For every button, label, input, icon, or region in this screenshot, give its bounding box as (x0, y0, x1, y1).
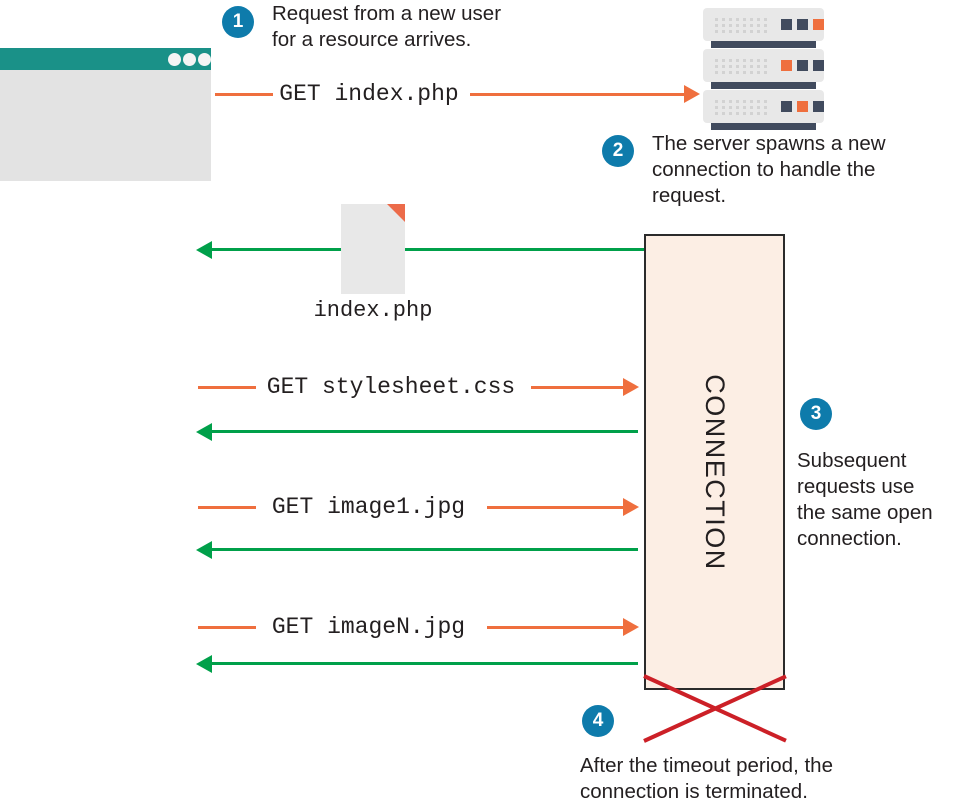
server-unit-base (711, 82, 816, 89)
response-line-3 (210, 548, 638, 551)
server-led (797, 101, 808, 112)
response-line-4 (210, 662, 638, 665)
diagram-canvas: 1 Request from a new user for a resource… (0, 0, 960, 807)
server-led (797, 60, 808, 71)
server-led (813, 60, 824, 71)
server-vent-grid (715, 18, 775, 32)
request-arrowhead-3 (623, 498, 639, 516)
request-line-left-4 (198, 626, 256, 629)
step-badge-3: 3 (800, 398, 832, 430)
step-text-1: Request from a new user for a resource a… (272, 1, 572, 53)
server-unit-base (711, 123, 816, 130)
server-rack (703, 8, 824, 128)
index-php-caption: index.php (293, 298, 453, 323)
index-php-file (341, 204, 405, 294)
response-line-1 (210, 248, 644, 251)
server-led (813, 19, 824, 30)
step-badge-2: 2 (602, 135, 634, 167)
browser-dot-icon (168, 53, 181, 66)
server-led (781, 19, 792, 30)
browser-dot-icon (183, 53, 196, 66)
response-line-2 (210, 430, 638, 433)
server-led (813, 101, 824, 112)
server-vent-grid (715, 100, 775, 114)
server-unit-base (711, 41, 816, 48)
connection-label: CONNECTION (699, 374, 730, 571)
browser-window (0, 48, 211, 181)
request-line-right-2 (531, 386, 623, 389)
server-led (781, 101, 792, 112)
server-led (781, 60, 792, 71)
browser-dot-icon (198, 53, 211, 66)
request-line-right-3 (487, 506, 623, 509)
step-badge-4: 4 (582, 705, 614, 737)
step-text-4: After the timeout period, the connection… (580, 753, 920, 805)
request-arrowhead-4 (623, 618, 639, 636)
request-arrowhead-2 (623, 378, 639, 396)
step-badge-1: 1 (222, 6, 254, 38)
server-vent-grid (715, 59, 775, 73)
connection-label-wrap: CONNECTION (619, 455, 810, 489)
step-text-2: The server spawns a new connection to ha… (652, 131, 942, 209)
request-label-2: GET stylesheet.css (256, 374, 526, 400)
document-fold-corner-icon (387, 204, 405, 222)
step-text-3: Subsequent requests use the same open co… (797, 448, 957, 552)
browser-viewport (0, 70, 211, 181)
server-led (797, 19, 808, 30)
request-line-left-2 (198, 386, 256, 389)
request-line-left-3 (198, 506, 256, 509)
request-arrowhead-1 (684, 85, 700, 103)
request-line-right-1 (470, 93, 684, 96)
request-label-4: GET imageN.jpg (256, 614, 481, 640)
request-label-3: GET image1.jpg (256, 494, 481, 520)
request-label-1: GET index.php (273, 81, 465, 107)
request-line-right-4 (487, 626, 623, 629)
request-line-left-1 (215, 93, 273, 96)
